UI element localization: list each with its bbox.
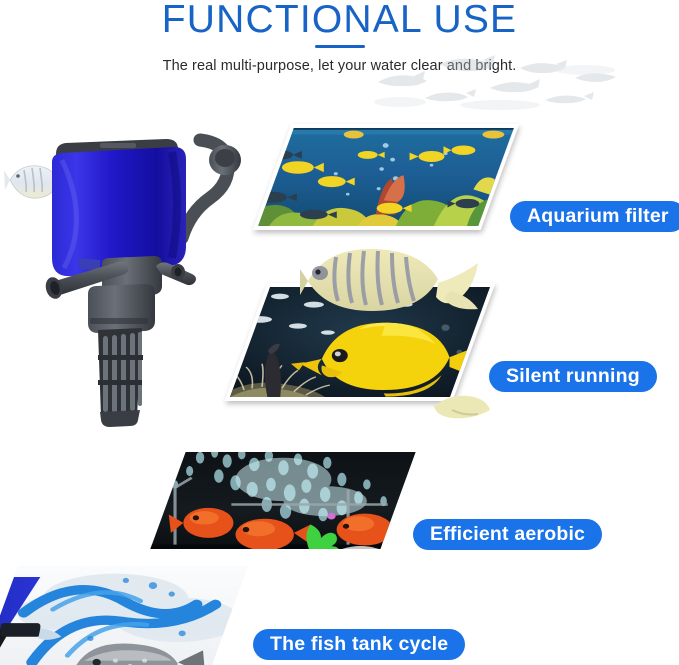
feature-photo-efficient-aerobic	[168, 452, 398, 549]
reef-aquarium-photo	[258, 128, 514, 226]
intake-strainer	[98, 328, 143, 427]
badge-silent-running[interactable]: Silent running	[489, 361, 657, 392]
header: FUNCTIONAL USE The real multi-purpose, l…	[0, 0, 679, 110]
pump-body	[52, 147, 186, 276]
aerated-tank-photo	[150, 452, 415, 549]
page-title: FUNCTIONAL USE	[0, 0, 679, 42]
title-divider	[315, 45, 365, 48]
badge-fish-tank-cycle[interactable]: The fish tank cycle	[253, 629, 465, 660]
feature-photo-silent-running	[246, 283, 474, 401]
product-pump-image	[4, 112, 254, 432]
page-subtitle: The real multi-purpose, let your water c…	[0, 58, 679, 74]
water-cycle-photo	[0, 566, 248, 665]
feature-photo-aquarium-filter	[272, 124, 500, 230]
badge-aquarium-filter[interactable]: Aquarium filter	[510, 201, 679, 232]
yellow-tang-photo	[230, 287, 490, 397]
feature-photo-fish-tank-cycle	[0, 566, 230, 665]
badge-efficient-aerobic[interactable]: Efficient aerobic	[413, 519, 602, 550]
